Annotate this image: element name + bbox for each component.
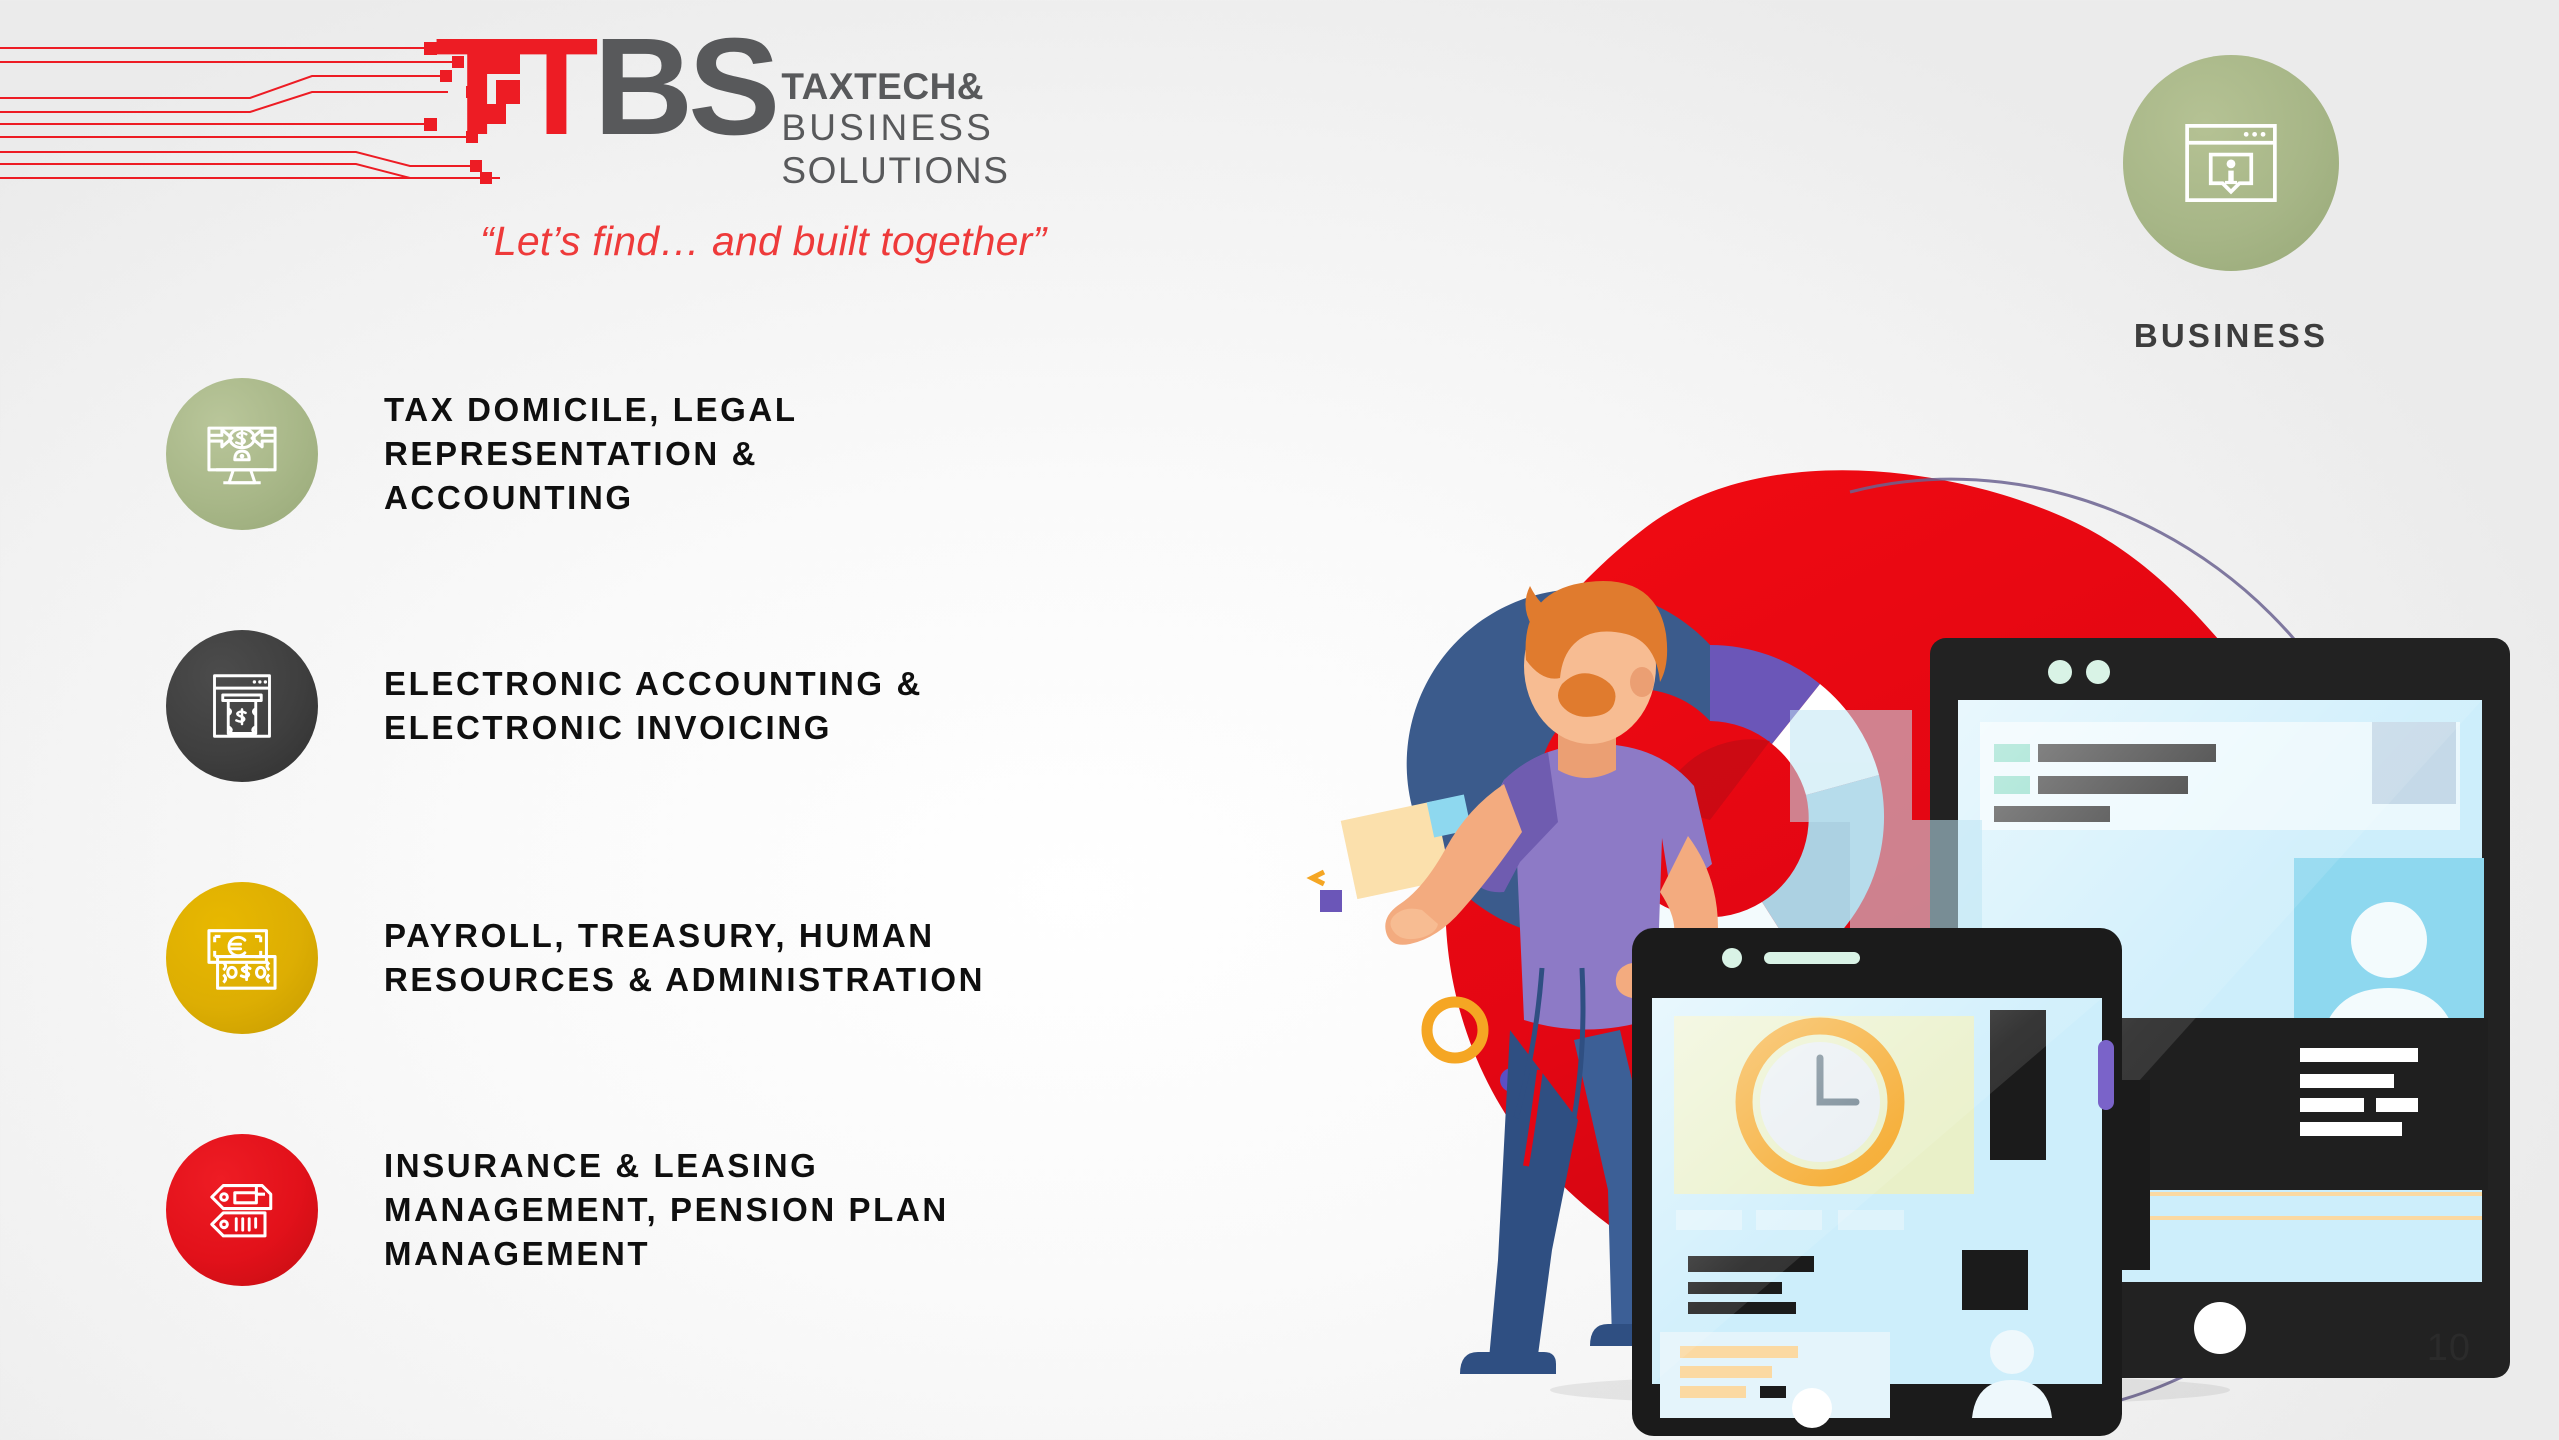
service-icon-circle: [166, 378, 318, 530]
list-item[interactable]: INSURANCE & LEASING MANAGEMENT, PENSION …: [166, 1134, 1286, 1286]
logo-line-taxtech: TAXTECH&: [781, 66, 1009, 107]
logo-letters: TTBS: [435, 24, 775, 151]
monitor-money-transfer-icon: [196, 408, 288, 500]
service-label: PAYROLL, TREASURY, HUMAN RESOURCES & ADM…: [384, 914, 985, 1002]
service-label: ELECTRONIC ACCOUNTING & ELECTRONIC INVOI…: [384, 662, 923, 750]
service-icon-circle: [166, 630, 318, 782]
logo-letters-bs: BS: [594, 10, 776, 164]
logo-wordmark: TTBS TAXTECH& BUSINESS SOLUTIONS: [435, 24, 1010, 193]
logo-sidetext: TAXTECH& BUSINESS SOLUTIONS: [781, 24, 1009, 193]
service-label: INSURANCE & LEASING MANAGEMENT, PENSION …: [384, 1144, 949, 1276]
logo-line-business: BUSINESS: [781, 107, 1009, 150]
services-list: TAX DOMICILE, LEGAL REPRESENTATION & ACC…: [166, 378, 1286, 1286]
service-icon-circle: [166, 1134, 318, 1286]
list-item[interactable]: TAX DOMICILE, LEGAL REPRESENTATION & ACC…: [166, 378, 1286, 530]
brand-tagline: “Let’s find… and built together”: [480, 218, 1046, 265]
service-icon-circle: [166, 882, 318, 1034]
atm-cash-dispenser-icon: [198, 662, 286, 750]
banknotes-euro-dollar-icon: [196, 912, 288, 1004]
business-badge-label: BUSINESS: [2121, 317, 2341, 355]
logo-line-solutions: SOLUTIONS: [781, 150, 1009, 193]
business-badge-circle: [2123, 55, 2339, 271]
service-label: TAX DOMICILE, LEGAL REPRESENTATION & ACC…: [384, 388, 798, 520]
logo-letters-tt: TT: [435, 10, 594, 164]
business-badge: BUSINESS: [2121, 55, 2341, 355]
list-item[interactable]: PAYROLL, TREASURY, HUMAN RESOURCES & ADM…: [166, 882, 1286, 1034]
phone-device: [1632, 928, 2122, 1436]
square-accent: [1320, 890, 1342, 912]
brand-header: TTBS TAXTECH& BUSINESS SOLUTIONS “Let’s …: [0, 0, 1200, 290]
page-number: 10: [2427, 1327, 2471, 1370]
list-item[interactable]: ELECTRONIC ACCOUNTING & ELECTRONIC INVOI…: [166, 630, 1286, 782]
insurance-tags-icon: [196, 1164, 288, 1256]
business-analytics-devices-illustration: [1290, 380, 2559, 1440]
info-browser-window-icon: [2177, 109, 2285, 217]
